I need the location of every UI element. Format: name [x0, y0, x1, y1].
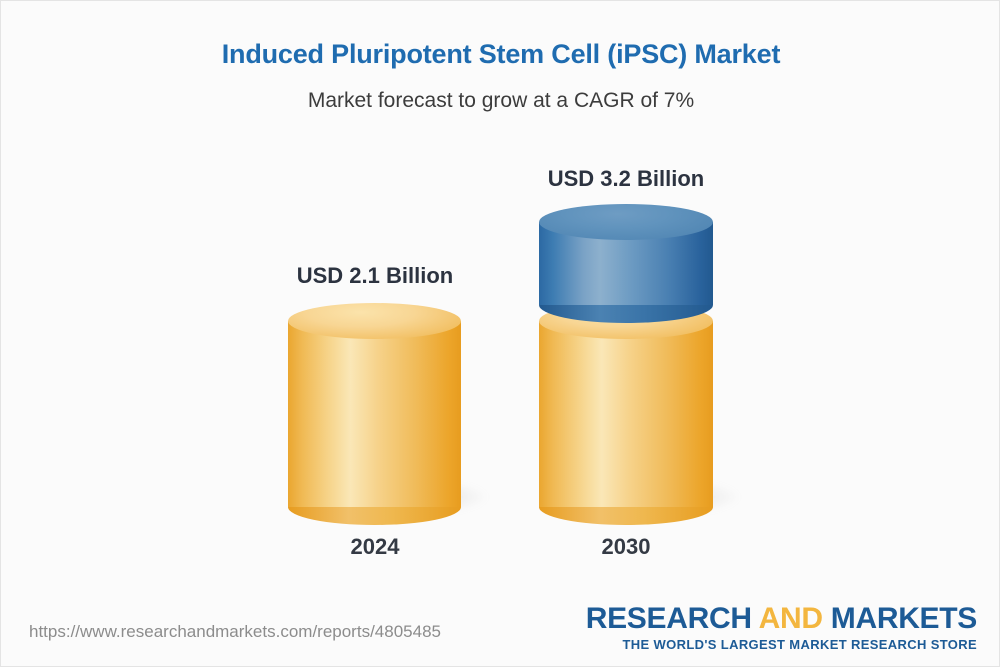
- brand-name-and: AND: [759, 602, 823, 635]
- report-url[interactable]: https://www.researchandmarkets.com/repor…: [29, 622, 441, 642]
- bar-value-label-2024: USD 2.1 Billion: [235, 263, 515, 289]
- category-label-2030: 2030: [486, 534, 766, 560]
- brand-name: RESEARCH AND MARKETS: [586, 603, 977, 635]
- brand-name-part1: RESEARCH: [586, 602, 759, 635]
- bar-cylinder-2024[interactable]: [288, 303, 461, 509]
- cylinder-body-2024: [288, 321, 461, 507]
- bar-cylinder-2030-base-segment[interactable]: [539, 303, 713, 509]
- cylinder-top-ellipse-2024: [288, 303, 461, 339]
- brand-logo[interactable]: RESEARCH AND MARKETS THE WORLD'S LARGEST…: [586, 603, 977, 652]
- chart-plot-area: USD 2.1 Billion 2024 USD 3.2 Billion: [1, 1, 1000, 601]
- bar-cylinder-2030-growth-segment[interactable]: [539, 204, 713, 323]
- brand-name-part2: MARKETS: [823, 602, 977, 635]
- bar-value-label-2030: USD 3.2 Billion: [486, 166, 766, 192]
- brand-tagline: THE WORLD'S LARGEST MARKET RESEARCH STOR…: [586, 637, 977, 652]
- infographic-canvas: Induced Pluripotent Stem Cell (iPSC) Mar…: [0, 0, 1000, 667]
- cylinder-top-ellipse-2030: [539, 204, 713, 240]
- cylinder-body-2030-base: [539, 321, 713, 507]
- category-label-2024: 2024: [235, 534, 515, 560]
